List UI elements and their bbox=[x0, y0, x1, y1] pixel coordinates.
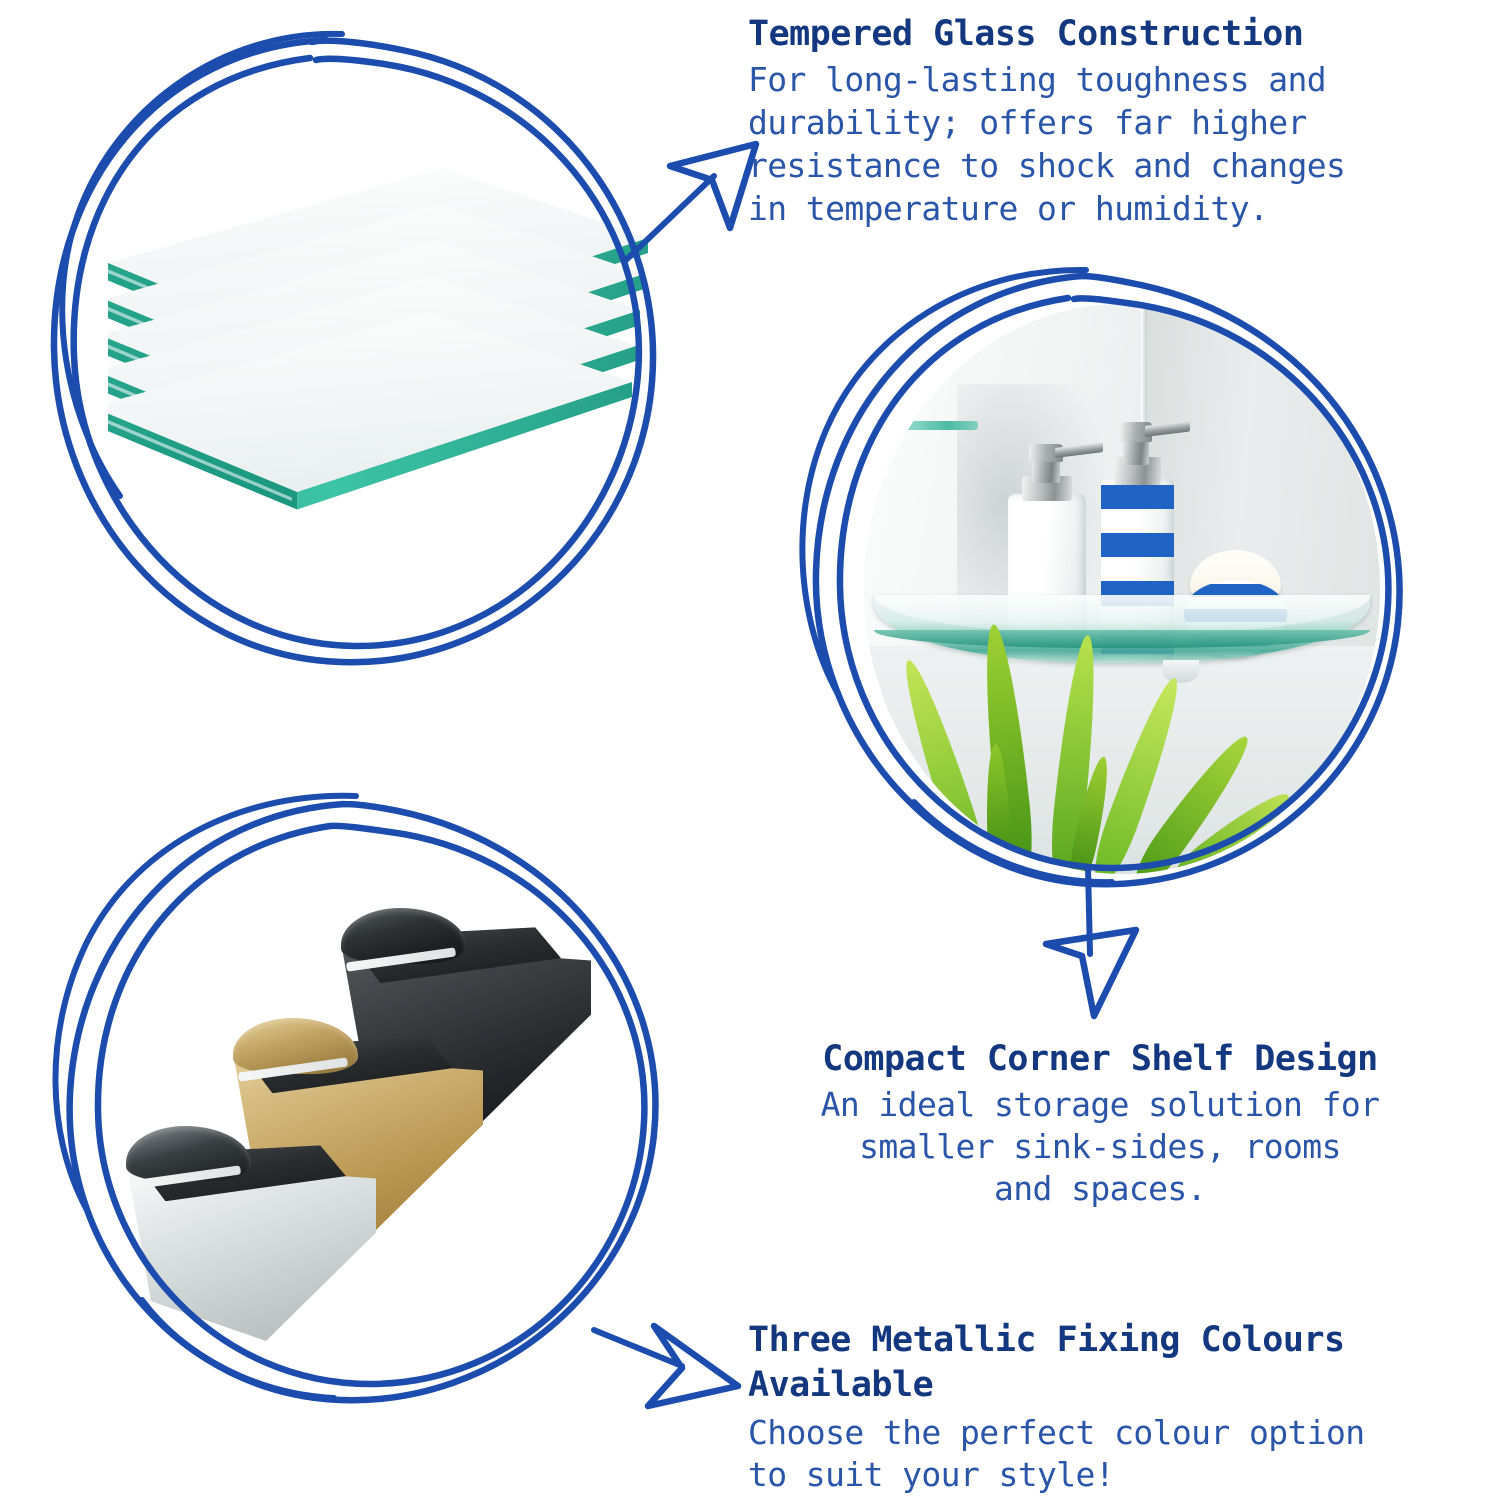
hand-drawn-circle-2 bbox=[786, 262, 1434, 914]
body-line: durability; offers far higher bbox=[748, 101, 1448, 144]
body-line: smaller sink-sides, rooms bbox=[748, 1126, 1452, 1168]
body-line: in temperature or humidity. bbox=[748, 187, 1448, 230]
body-line: An ideal storage solution for bbox=[748, 1084, 1452, 1126]
heading-line: Available bbox=[748, 1363, 1460, 1408]
body-line: Choose the perfect colour option bbox=[748, 1412, 1460, 1454]
feature-text-metallic-fixings: Three Metallic Fixing Colours Available … bbox=[748, 1318, 1460, 1496]
body-metallic-fixings: Choose the perfect colour option to suit… bbox=[748, 1412, 1460, 1496]
feature-circle-metallic-fixings bbox=[34, 788, 716, 1424]
feature-circle-corner-shelf bbox=[786, 262, 1434, 914]
body-line: For long-lasting toughness and bbox=[748, 58, 1448, 101]
body-line: to suit your style! bbox=[748, 1454, 1460, 1496]
heading-metallic-fixings: Three Metallic Fixing Colours Available bbox=[748, 1318, 1460, 1408]
body-tempered-glass: For long-lasting toughness and durabilit… bbox=[748, 58, 1448, 230]
heading-corner-shelf: Compact Corner Shelf Design bbox=[748, 1036, 1452, 1082]
body-line: resistance to shock and changes bbox=[748, 144, 1448, 187]
heading-tempered-glass: Tempered Glass Construction bbox=[748, 12, 1448, 56]
arrow-down-icon bbox=[1032, 868, 1202, 1058]
body-corner-shelf: An ideal storage solution for smaller si… bbox=[748, 1084, 1452, 1210]
feature-circle-tempered-glass bbox=[24, 18, 724, 718]
feature-text-tempered-glass: Tempered Glass Construction For long-las… bbox=[748, 12, 1448, 230]
infographic-canvas: Tempered Glass Construction For long-las… bbox=[0, 0, 1500, 1500]
body-line: and spaces. bbox=[748, 1168, 1452, 1210]
heading-line: Three Metallic Fixing Colours bbox=[748, 1318, 1460, 1363]
feature-text-corner-shelf: Compact Corner Shelf Design An ideal sto… bbox=[748, 1036, 1452, 1210]
